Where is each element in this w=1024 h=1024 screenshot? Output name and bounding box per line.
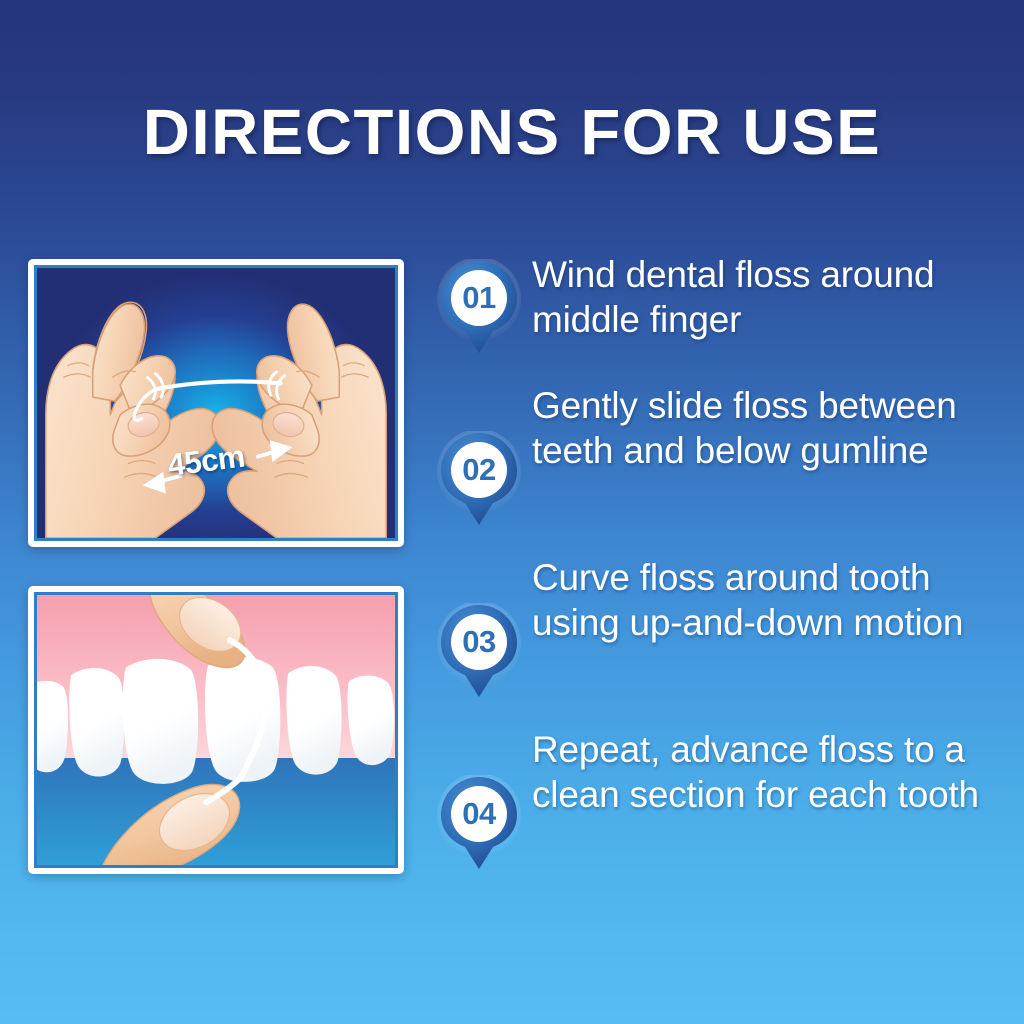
step-badge-01: 01 bbox=[436, 259, 522, 355]
step-number-02: 02 bbox=[436, 431, 522, 509]
steps-list: 01 Wind dental floss around middle finge… bbox=[436, 252, 998, 899]
step-item-01: 01 Wind dental floss around middle finge… bbox=[436, 252, 998, 355]
measure-arrows bbox=[37, 268, 395, 538]
step-text-02: Gently slide floss between teeth and bel… bbox=[522, 383, 998, 473]
step-item-04: 04 Repeat, advance floss to a clean sect… bbox=[436, 727, 998, 871]
step-text-01: Wind dental floss around middle finger bbox=[522, 252, 998, 342]
page-title: DIRECTIONS FOR USE bbox=[0, 95, 1024, 169]
step-badge-03: 03 bbox=[436, 603, 522, 699]
illustration-panel-teeth bbox=[28, 586, 404, 874]
upper-finger bbox=[149, 595, 251, 668]
panel-inner-frame-2 bbox=[34, 592, 398, 868]
step-number-04: 04 bbox=[436, 775, 522, 853]
step-number-03: 03 bbox=[436, 603, 522, 681]
directions-for-use-graphic: DIRECTIONS FOR USE bbox=[0, 0, 1024, 1024]
teeth-floss-illustration bbox=[37, 595, 395, 865]
step-item-02: 02 Gently slide floss between teeth and … bbox=[436, 383, 998, 527]
illustration-panel-hands bbox=[28, 259, 404, 547]
step-text-04: Repeat, advance floss to a clean section… bbox=[522, 727, 998, 817]
step-item-03: 03 Curve floss around tooth using up-and… bbox=[436, 555, 998, 699]
teeth-row bbox=[37, 657, 394, 784]
step-badge-04: 04 bbox=[436, 775, 522, 871]
step-number-01: 01 bbox=[436, 259, 522, 337]
step-text-03: Curve floss around tooth using up-and-do… bbox=[522, 555, 998, 645]
step-badge-02: 02 bbox=[436, 431, 522, 527]
panel-inner-frame bbox=[34, 265, 398, 541]
